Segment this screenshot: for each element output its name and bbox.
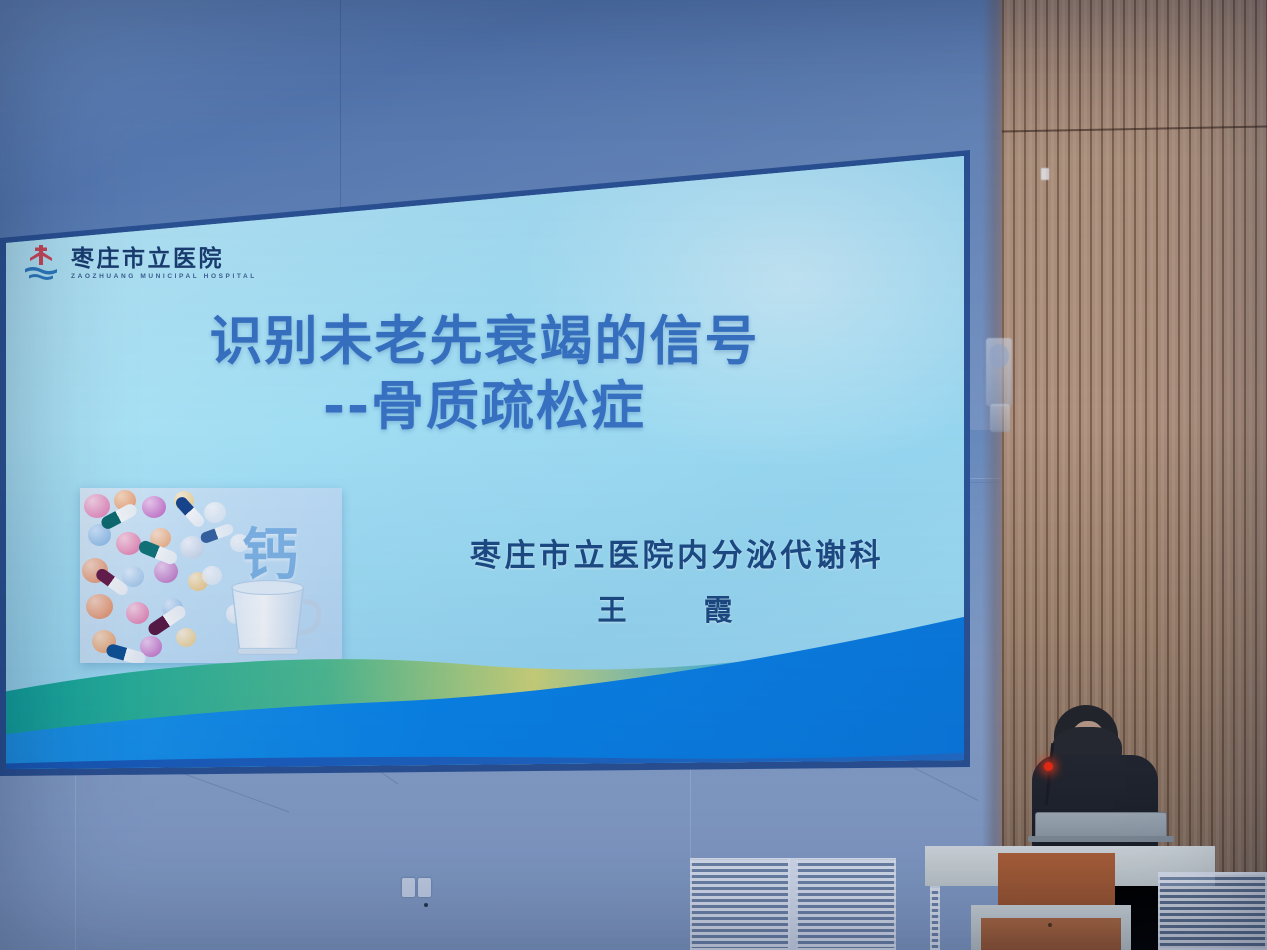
presenter-organization: 枣庄市立医院内分泌代谢科	[422, 530, 932, 575]
wall-corner-shadow	[982, 0, 1002, 875]
red-cross-icon	[28, 245, 54, 265]
podium-knob[interactable]	[1048, 923, 1052, 927]
slide-title-line1: 识别未老先衰竭的信号	[0, 315, 977, 368]
air-vent	[1158, 872, 1267, 950]
projection-screen[interactable]: 枣庄市立医院 ZAOZHUANG MUNICIPAL HOSPITAL 识别未老…	[0, 150, 977, 776]
lecture-hall-scene: 枣庄市立医院 ZAOZHUANG MUNICIPAL HOSPITAL 识别未老…	[0, 0, 1267, 950]
blue-wave-icon	[24, 266, 58, 282]
slide-title-line2: --骨质疏松症	[0, 376, 977, 437]
hospital-cross-wave-logo-icon	[20, 243, 62, 285]
wall-sensor-dot	[424, 903, 428, 907]
hospital-logo: 枣庄市立医院 ZAOZHUANG MUNICIPAL HOSPITAL	[20, 243, 257, 285]
slide-title-block: 识别未老先衰竭的信号 --骨质疏松症	[0, 315, 977, 437]
logo-text: 枣庄市立医院 ZAOZHUANG MUNICIPAL HOSPITAL	[71, 248, 257, 281]
podium-wood-panel	[998, 853, 1115, 905]
slide-wave-decoration	[0, 586, 977, 776]
air-vent	[930, 886, 940, 950]
microphone-indicator-led	[1044, 762, 1053, 771]
wall-sensor-icon	[990, 404, 1010, 432]
light-switch[interactable]	[402, 878, 415, 897]
wall-marking	[1041, 168, 1049, 180]
logo-name-cn: 枣庄市立医院	[71, 248, 257, 271]
powerpoint-slide: 枣庄市立医院 ZAOZHUANG MUNICIPAL HOSPITAL 识别未老…	[0, 150, 977, 776]
wall-speaker-icon	[986, 338, 1012, 406]
vent-divider	[788, 858, 796, 950]
light-switch[interactable]	[418, 878, 431, 897]
air-vent	[796, 858, 896, 950]
air-vent	[690, 858, 790, 950]
logo-name-en: ZAOZHUANG MUNICIPAL HOSPITAL	[71, 274, 257, 281]
